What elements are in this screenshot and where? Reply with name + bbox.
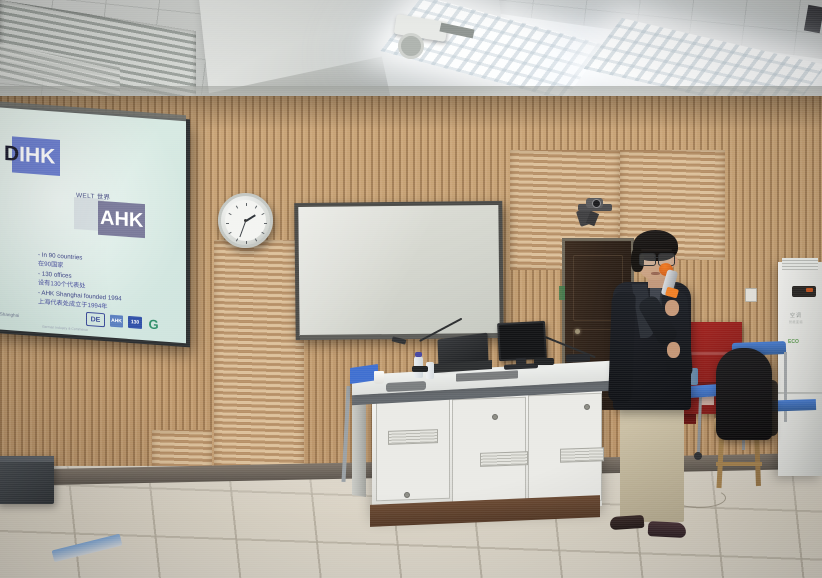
black-coat	[716, 348, 772, 440]
desktop-monitor[interactable]	[497, 321, 547, 361]
podium-vent-grille	[560, 447, 604, 463]
projector-lens-icon	[398, 33, 424, 59]
partner-logo-icon: G	[147, 317, 160, 330]
slide-bullet-list: - In 90 countries 在90国家 - 130 offices 设有…	[38, 250, 122, 313]
ac-brand-sub: 智能变频	[789, 320, 803, 324]
podium-vent-grille	[480, 451, 528, 467]
speaker-shoe-left	[610, 515, 645, 530]
microphone-base-right	[534, 358, 554, 365]
clock-face	[225, 200, 266, 241]
speaker-hand-holding-mic	[665, 300, 679, 316]
ac-grille-icon	[782, 258, 818, 270]
partner-logo-icon: AHK	[110, 315, 123, 328]
desk-device	[566, 353, 590, 362]
ac-eco-badge: ECO	[788, 339, 799, 345]
speaker-mouth	[651, 272, 660, 275]
speaker-trousers	[620, 400, 684, 522]
eyeglasses-icon	[639, 253, 675, 264]
speaker-brow	[641, 249, 672, 251]
ceiling-fixture-dark	[804, 5, 822, 33]
podium-cabinet-door[interactable]	[376, 399, 450, 502]
podium-vent-grille	[388, 429, 438, 445]
ac-display-indicator	[806, 288, 813, 292]
door-knob-icon[interactable]	[575, 329, 580, 334]
exit-sign-edge	[559, 286, 565, 300]
clock-minute-hand	[239, 220, 246, 236]
bottle-cap	[415, 352, 422, 357]
camera-lens-icon	[592, 199, 601, 208]
microphone-base-left	[412, 366, 428, 372]
partner-logo-icon: DE	[86, 312, 105, 327]
ahk-logo-text: AHK	[100, 203, 143, 237]
clock-center-dot	[244, 219, 247, 222]
chair-frame-right	[784, 352, 787, 422]
acoustic-panel-left	[214, 240, 304, 490]
wooden-chair-rail	[716, 462, 762, 466]
speaker-hand-lower	[667, 342, 680, 358]
projection-screen: DIHK WELT 世界 AHK 贸易) - In 90 countries 在…	[0, 107, 186, 343]
storage-crate	[0, 456, 54, 504]
light-switch[interactable]	[745, 288, 757, 302]
dihk-logo-text: DIHK	[4, 138, 55, 174]
speaker-shoe-right	[648, 521, 687, 538]
speaker-arm-left	[608, 292, 636, 403]
table-caster	[694, 452, 702, 460]
paper-cup	[374, 371, 384, 384]
wall-clock	[218, 193, 273, 248]
partner-logo-icon: 130	[128, 316, 142, 329]
cabinet-lock-icon[interactable]	[404, 492, 410, 498]
whiteboard	[298, 205, 499, 336]
cabinet-label	[700, 396, 714, 405]
ac-brand-text: 空调	[790, 312, 802, 319]
photo-scene: DIHK WELT 世界 AHK 贸易) - In 90 countries 在…	[0, 0, 822, 578]
cabinet-lock-icon[interactable]	[584, 404, 590, 410]
cabinet-lock-icon[interactable]	[492, 414, 498, 420]
crate-rim	[0, 456, 54, 462]
